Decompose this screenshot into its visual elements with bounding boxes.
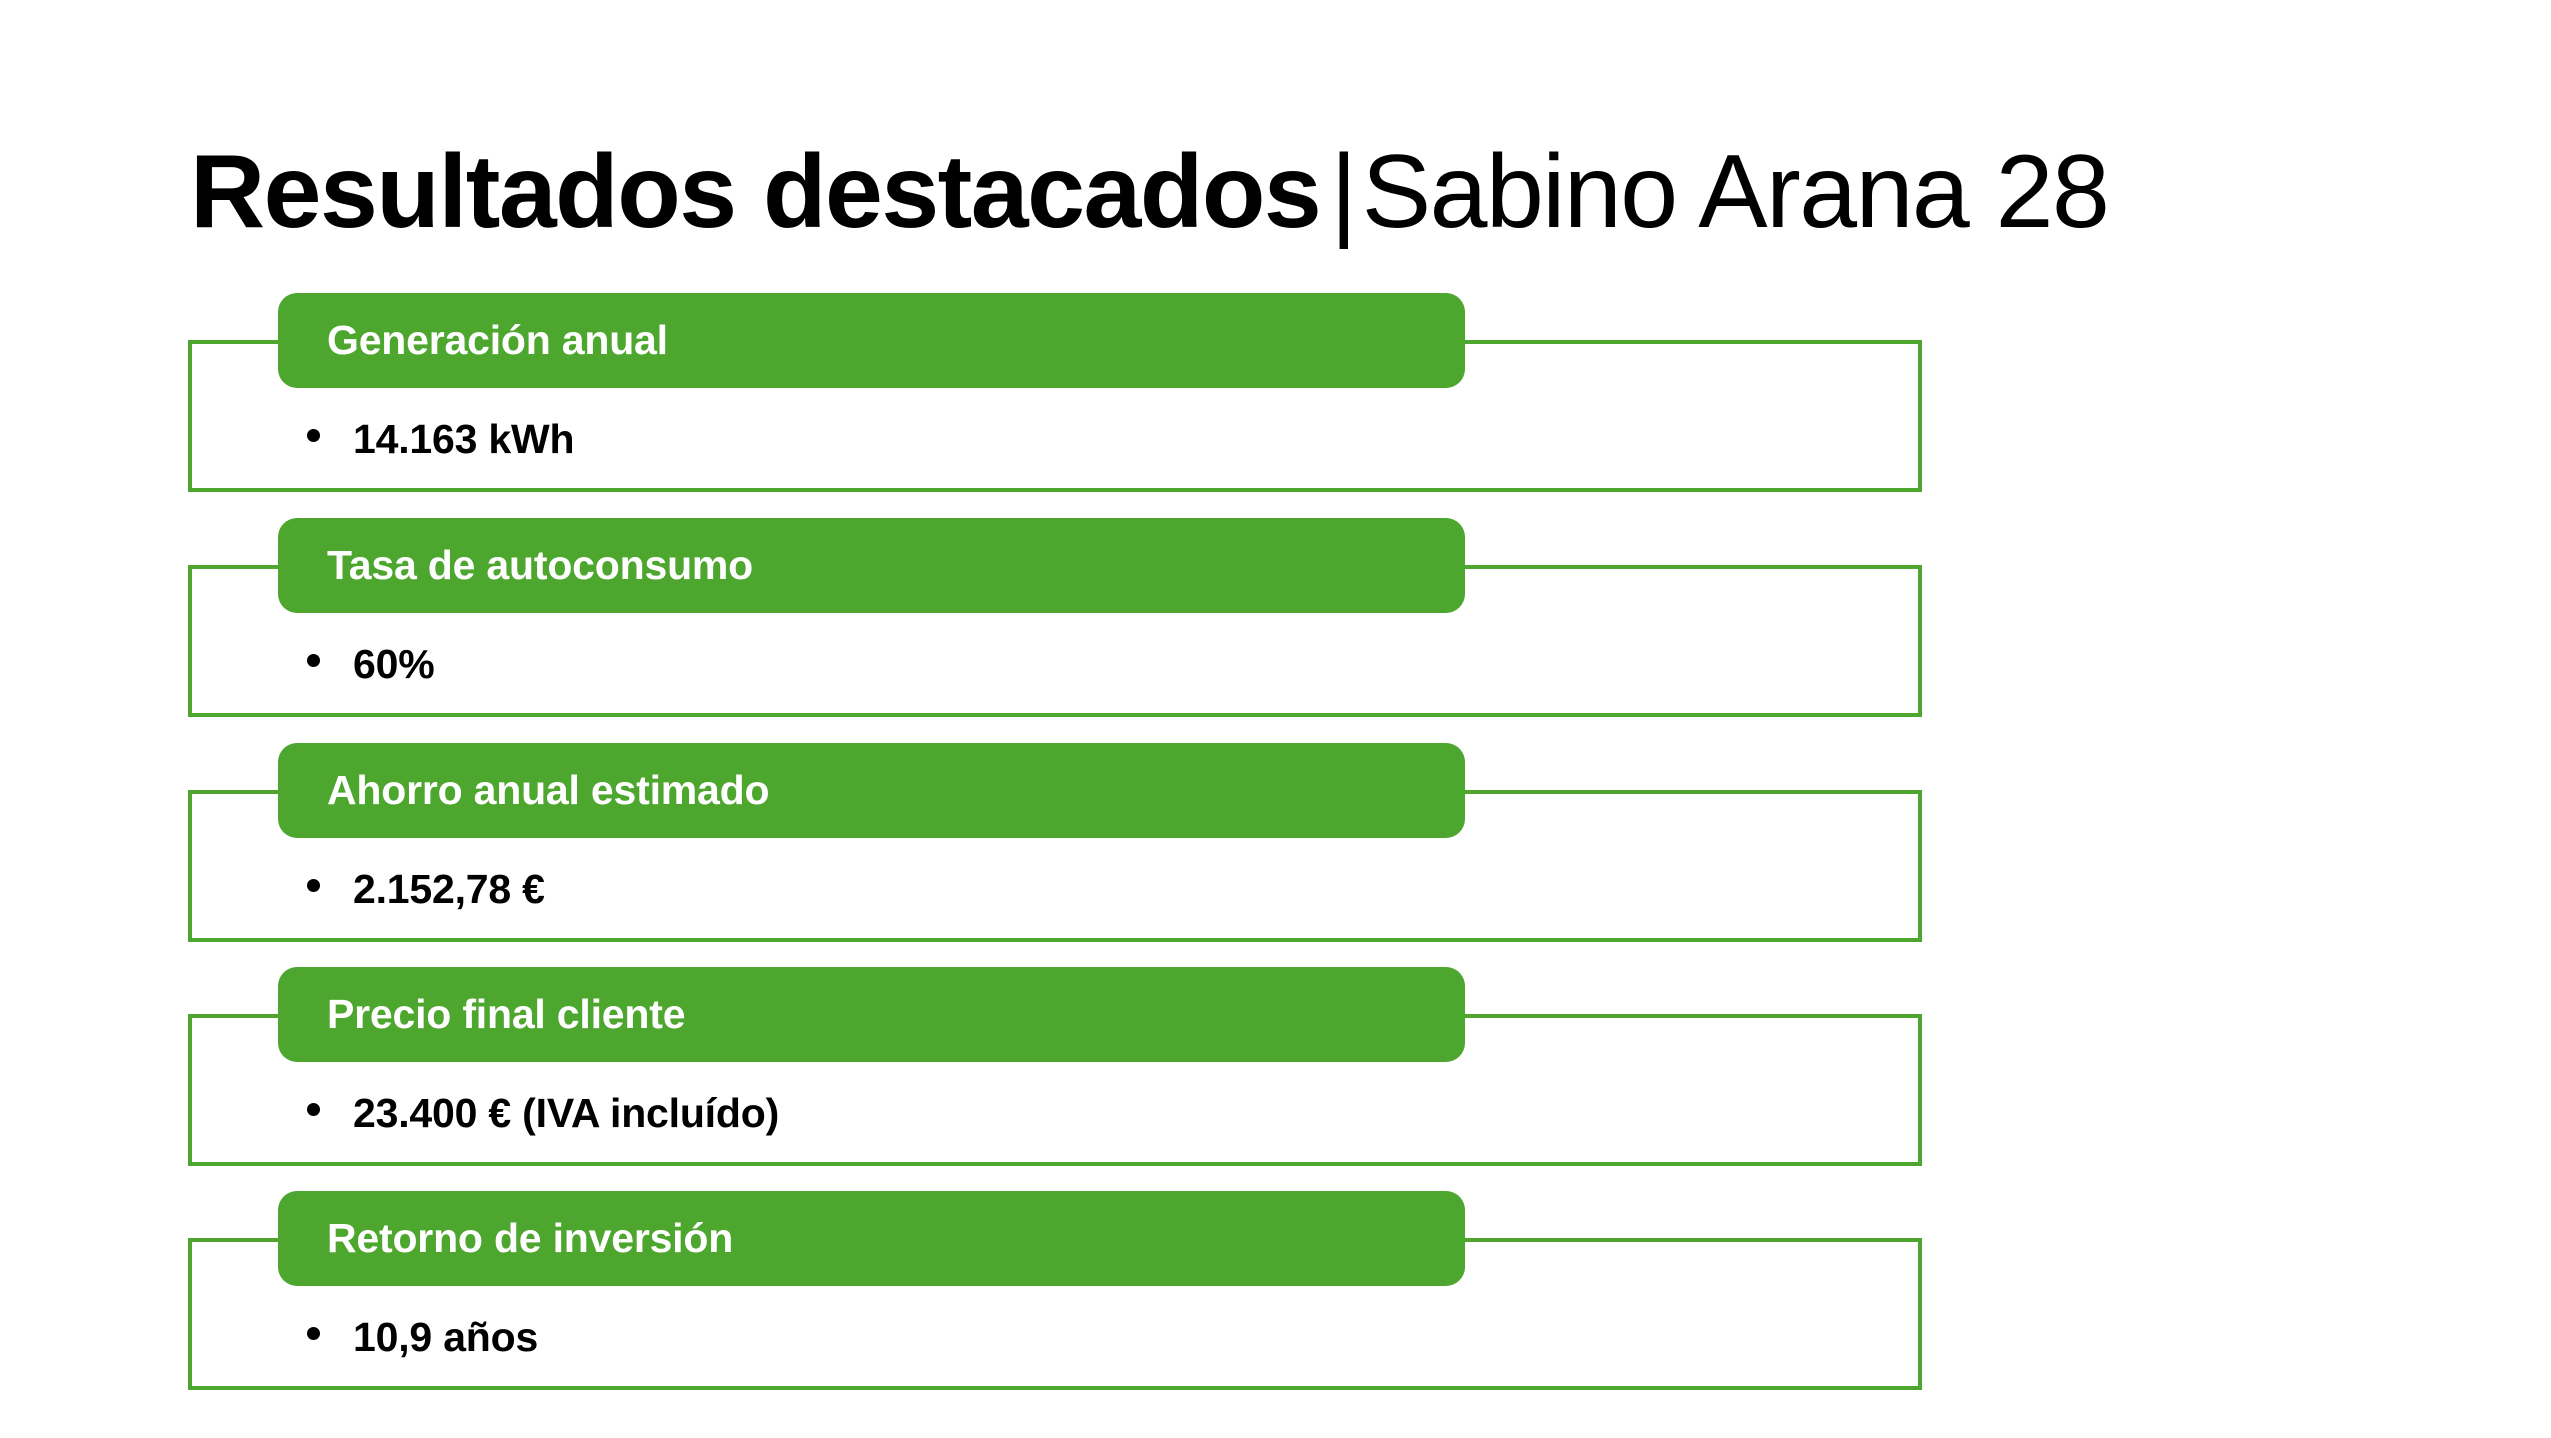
result-card-value: 23.400 € (IVA incluído) (353, 1090, 779, 1137)
result-card: Ahorro anual estimado 2.152,78 € (188, 790, 1922, 942)
result-card-bullet: 14.163 kWh (307, 416, 574, 463)
bullet-dot-icon (307, 654, 320, 667)
result-card-header-badge: Generación anual (278, 293, 1465, 388)
result-card-label: Generación anual (327, 317, 668, 364)
result-card-header-badge: Precio final cliente (278, 967, 1465, 1062)
result-card-label: Retorno de inversión (327, 1215, 733, 1262)
slide-canvas: Resultados destacados|Sabino Arana 28 Ge… (0, 0, 2551, 1438)
results-card-list: Generación anual 14.163 kWh Tasa de auto… (0, 0, 2551, 1438)
result-card-label: Ahorro anual estimado (327, 767, 769, 814)
result-card-value: 60% (353, 641, 434, 688)
result-card-header-badge: Retorno de inversión (278, 1191, 1465, 1286)
result-card: Precio final cliente 23.400 € (IVA inclu… (188, 1014, 1922, 1166)
result-card: Tasa de autoconsumo 60% (188, 565, 1922, 717)
result-card-bullet: 2.152,78 € (307, 866, 545, 913)
result-card: Generación anual 14.163 kWh (188, 340, 1922, 492)
bullet-dot-icon (307, 879, 320, 892)
result-card-label: Precio final cliente (327, 991, 685, 1038)
bullet-dot-icon (307, 429, 320, 442)
result-card-bullet: 60% (307, 641, 434, 688)
result-card-bullet: 10,9 años (307, 1314, 538, 1361)
bullet-dot-icon (307, 1327, 320, 1340)
result-card: Retorno de inversión 10,9 años (188, 1238, 1922, 1390)
result-card-header-badge: Tasa de autoconsumo (278, 518, 1465, 613)
result-card-header-badge: Ahorro anual estimado (278, 743, 1465, 838)
result-card-value: 10,9 años (353, 1314, 538, 1361)
result-card-label: Tasa de autoconsumo (327, 542, 753, 589)
bullet-dot-icon (307, 1103, 320, 1116)
result-card-value: 2.152,78 € (353, 866, 545, 913)
result-card-value: 14.163 kWh (353, 416, 574, 463)
result-card-bullet: 23.400 € (IVA incluído) (307, 1090, 779, 1137)
